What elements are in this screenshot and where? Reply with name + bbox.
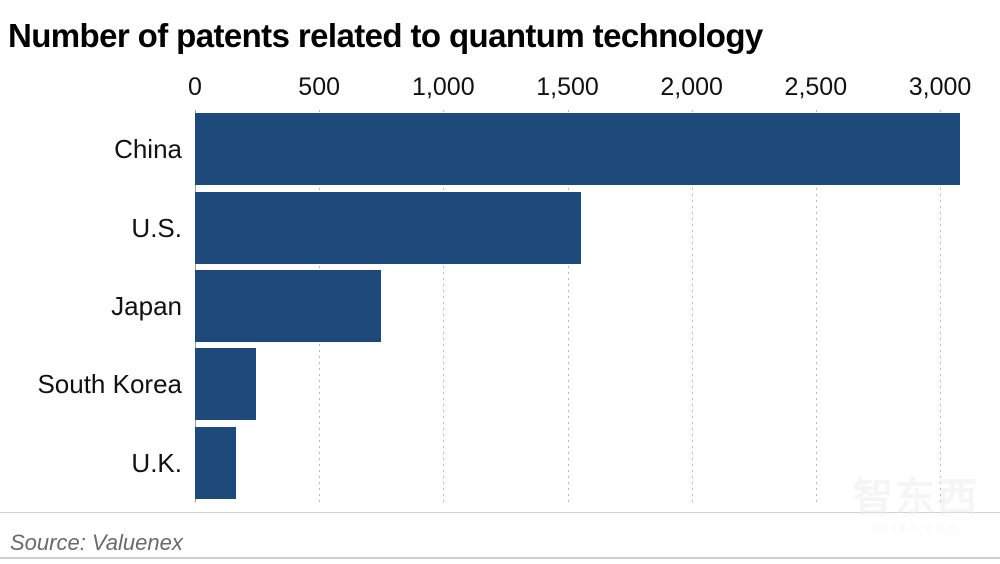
bar: [195, 427, 236, 499]
bar-series: ChinaU.S.JapanSouth KoreaU.K.: [0, 110, 1000, 502]
bar: [195, 192, 581, 264]
x-axis-tick-label: 2,500: [785, 72, 848, 102]
category-label: Japan: [111, 291, 182, 321]
x-axis-tick-label: 1,000: [412, 72, 475, 102]
bar-row: U.S.: [0, 192, 1000, 264]
source-note: Source: Valuenex: [10, 530, 183, 556]
bar-row: South Korea: [0, 348, 1000, 420]
bottom-divider: [0, 557, 1000, 559]
category-label: South Korea: [37, 369, 182, 399]
bar: [195, 348, 256, 420]
watermark-url: zhidx.com: [846, 520, 986, 536]
footer-divider: [0, 512, 1000, 513]
category-label: China: [114, 134, 182, 164]
bar-row: China: [0, 113, 1000, 185]
category-label: U.K.: [131, 448, 182, 478]
x-axis: 05001,0001,5002,0002,5003,000: [0, 72, 1000, 106]
x-axis-tick-label: 3,000: [909, 72, 972, 102]
x-axis-tick-label: 0: [188, 72, 202, 102]
category-label: U.S.: [131, 213, 182, 243]
bar: [195, 270, 381, 342]
x-axis-tick-label: 500: [298, 72, 340, 102]
x-axis-tick-label: 2,000: [660, 72, 723, 102]
chart-figure: Number of patents related to quantum tec…: [0, 0, 1000, 564]
bar: [195, 113, 960, 185]
plot-area: 05001,0001,5002,0002,5003,000 ChinaU.S.J…: [0, 72, 1000, 502]
x-axis-tick-label: 1,500: [536, 72, 599, 102]
page-title: Number of patents related to quantum tec…: [8, 14, 998, 58]
bar-row: U.K.: [0, 427, 1000, 499]
bar-row: Japan: [0, 270, 1000, 342]
